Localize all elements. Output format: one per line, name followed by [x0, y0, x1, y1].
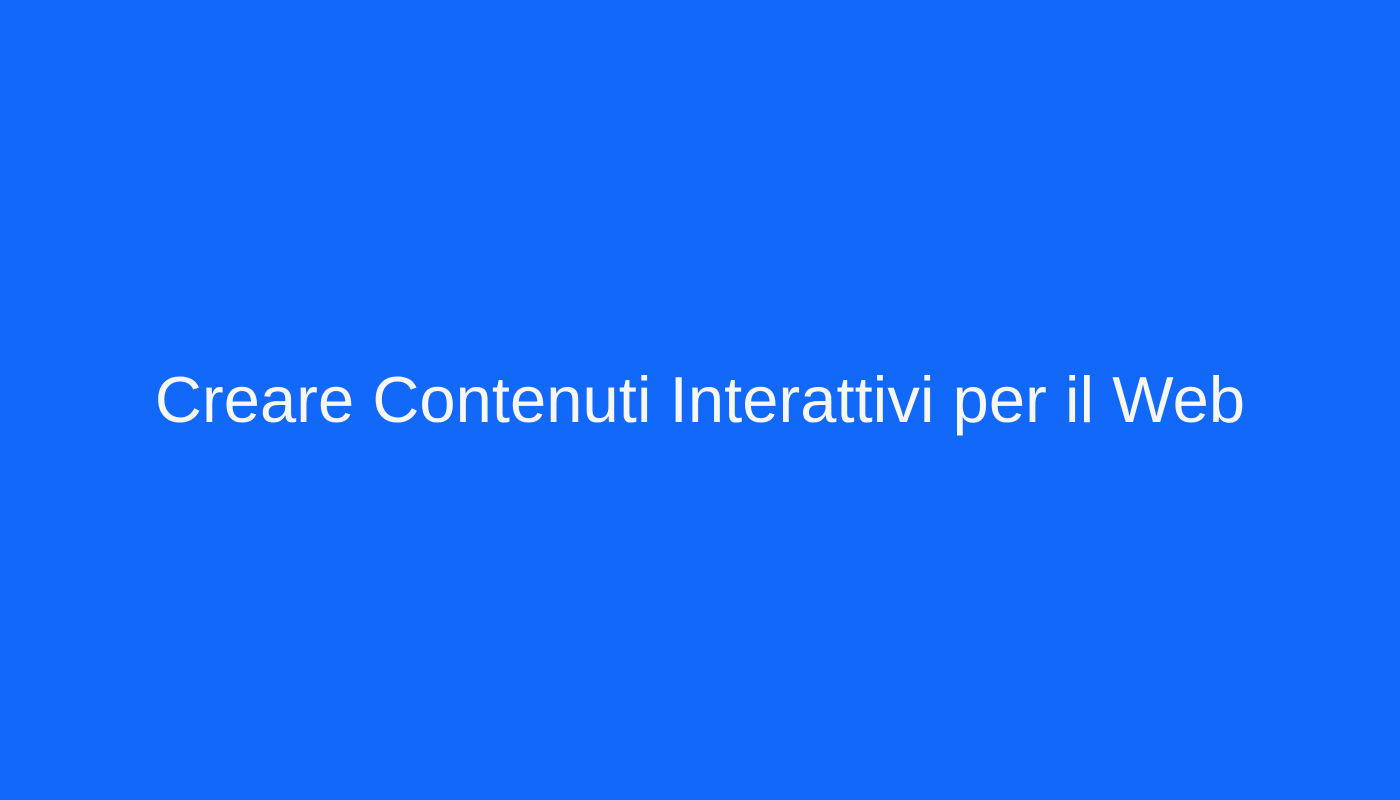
page-title: Creare Contenuti Interattivi per il Web: [155, 364, 1245, 436]
hero-banner: Creare Contenuti Interattivi per il Web: [0, 0, 1400, 800]
